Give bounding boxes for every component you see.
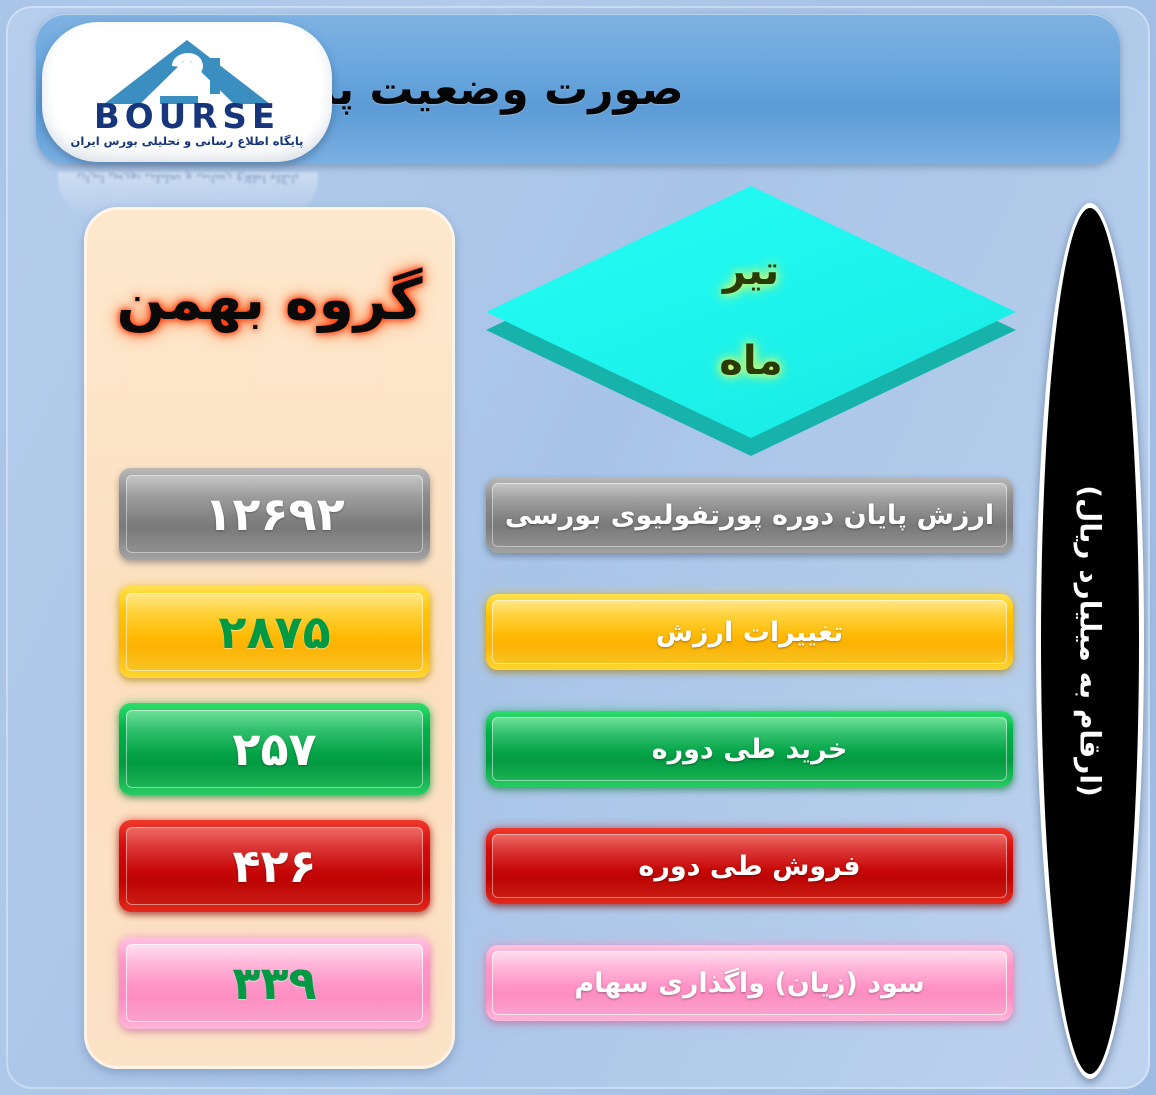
label-text: خرید طی دوره: [652, 734, 848, 765]
logo-subtitle: پایگاه اطلاع رسانی و تحلیلی بورس ایران: [42, 134, 332, 148]
units-note-ellipse: (ارقام به میلیارد ریال): [1036, 203, 1144, 1079]
value-text: ۱۲۶۹۲: [204, 487, 344, 541]
value-text: ۲۵۷: [232, 722, 316, 776]
label-text: ارزش پایان دوره پورتفولیوی بورسی: [505, 500, 994, 531]
label-text: سود (زیان) واگذاری سهام: [574, 968, 924, 999]
group-name: گروه بهمن: [84, 267, 455, 333]
value-text: ۲۸۷۵: [218, 605, 330, 659]
brand-logo: BOURSE پایگاه اطلاع رسانی و تحلیلی بورس …: [42, 22, 332, 162]
diamond-top-face: [486, 186, 1016, 438]
period-month-word: ماه: [486, 338, 1016, 384]
units-note-text: (ارقام به میلیارد ریال): [1074, 485, 1107, 797]
value-chip-sales: ۴۲۶: [119, 820, 430, 912]
label-text: تغییرات ارزش: [656, 617, 844, 648]
infographic-canvas: صورت وضعیت پرتفولیو BOURSE پایگاه اطلاع …: [0, 0, 1156, 1095]
logo-wordmark: BOURSE: [42, 100, 332, 134]
value-chip-value-change: ۲۸۷۵: [119, 586, 430, 678]
label-text: فروش طی دوره: [638, 851, 860, 882]
logo-reflection-text: پایگاه اطلاع رسانی و تحلیلی بورس ایران: [58, 172, 318, 193]
period-month-name: تیر: [486, 248, 1016, 294]
value-text: ۴۲۶: [232, 839, 316, 893]
value-chip-portfolio-end-value: ۱۲۶۹۲: [119, 468, 430, 560]
label-chip-profit-loss: سود (زیان) واگذاری سهام: [486, 945, 1013, 1021]
value-text: ۳۳۹: [232, 956, 316, 1010]
label-chip-portfolio-end-value: ارزش پایان دوره پورتفولیوی بورسی: [486, 477, 1013, 553]
label-chip-value-change: تغییرات ارزش: [486, 594, 1013, 670]
value-chip-purchases: ۲۵۷: [119, 703, 430, 795]
label-chip-sales: فروش طی دوره: [486, 828, 1013, 904]
value-chip-profit-loss: ۳۳۹: [119, 937, 430, 1029]
label-chip-purchases: خرید طی دوره: [486, 711, 1013, 787]
period-diamond: تیر ماه: [486, 186, 1016, 456]
